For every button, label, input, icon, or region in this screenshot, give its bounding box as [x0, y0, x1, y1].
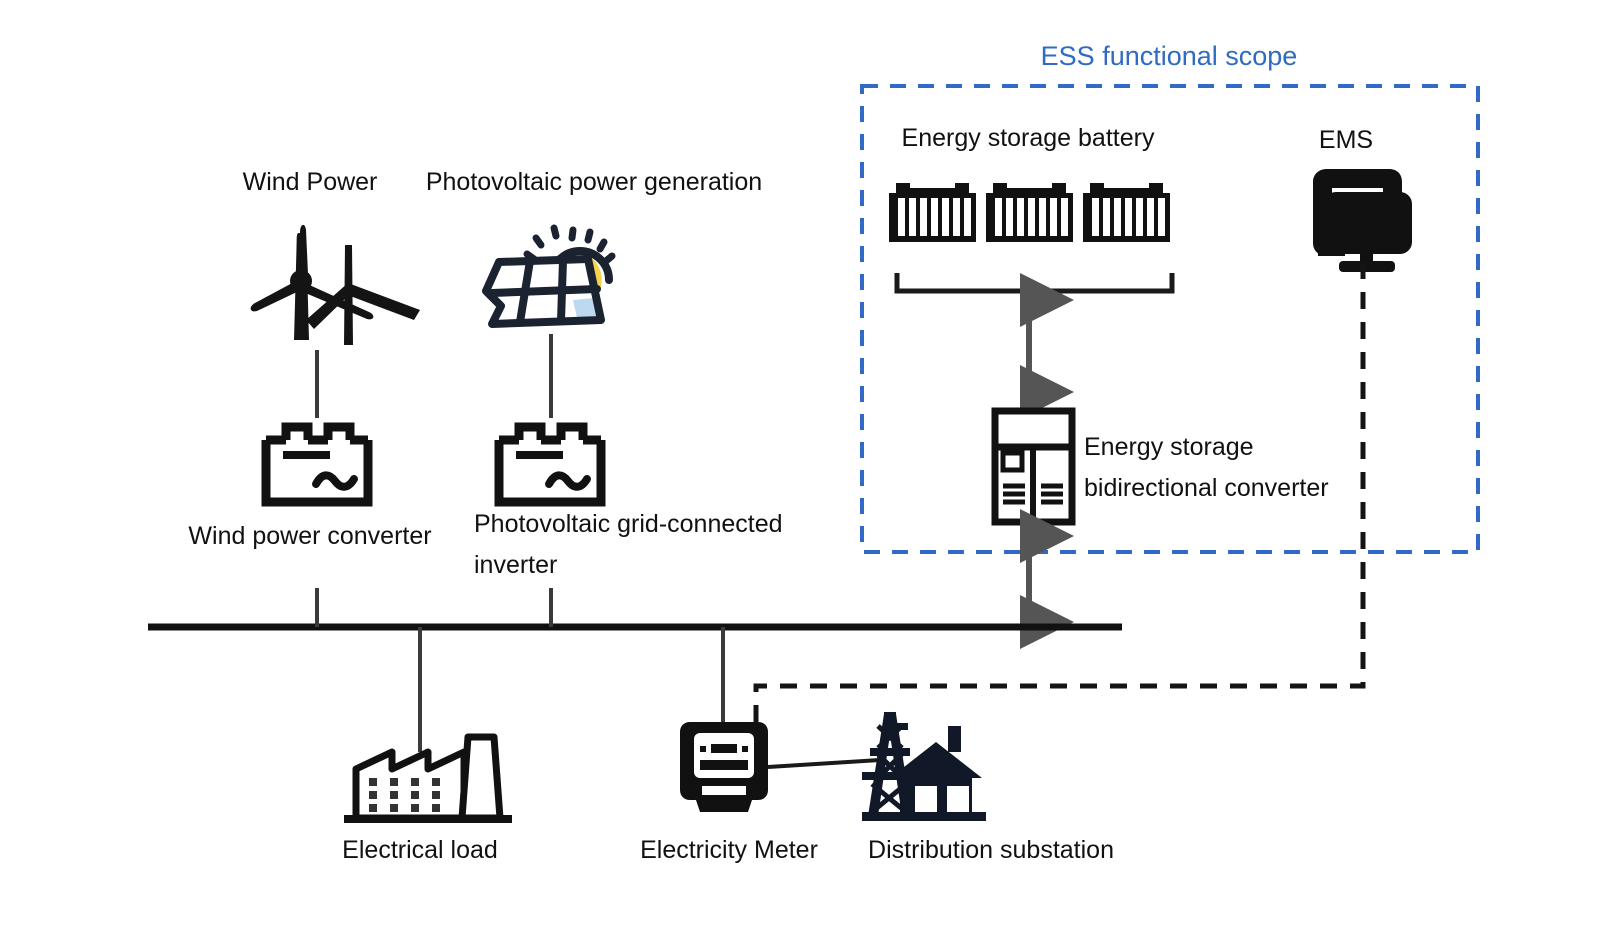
meter-icon	[680, 722, 768, 812]
battery-icon	[889, 183, 976, 242]
ems-computer-icon	[1313, 169, 1412, 272]
ess-scope-title: ESS functional scope	[1041, 41, 1298, 72]
substation-icon	[862, 712, 986, 821]
battery-group	[889, 183, 1170, 242]
factory-icon	[344, 737, 512, 819]
energy-storage-battery-label: Energy storage battery	[902, 123, 1155, 154]
battery-icon	[1083, 183, 1170, 242]
distribution-substation-label: Distribution substation	[868, 835, 1114, 866]
wind-converter-label: Wind power converter	[188, 521, 431, 552]
converter-label-line2: bidirectional converter	[1084, 473, 1329, 504]
pv-inverter-icon	[499, 427, 601, 502]
diagram-canvas: ESS functional scope Energy storage batt…	[0, 0, 1599, 926]
solar-panel-icon	[486, 228, 612, 325]
electricity-meter-label: Electricity Meter	[640, 835, 818, 866]
meter-substation-line	[768, 760, 880, 767]
ems-label: EMS	[1319, 125, 1373, 156]
converter-label-line1: Energy storage	[1084, 432, 1254, 463]
pcs-cabinet-icon	[995, 411, 1072, 522]
battery-icon	[986, 183, 1073, 242]
pv-power-title: Photovoltaic power generation	[426, 167, 762, 198]
electrical-load-label: Electrical load	[342, 835, 498, 866]
wind-power-title: Wind Power	[243, 167, 378, 198]
battery-bracket	[897, 273, 1172, 291]
wind-turbine-icon	[251, 225, 420, 345]
pv-inverter-label-line2: inverter	[474, 550, 557, 581]
wind-converter-icon	[266, 427, 368, 502]
pv-inverter-label-line1: Photovoltaic grid-connected	[474, 509, 783, 540]
